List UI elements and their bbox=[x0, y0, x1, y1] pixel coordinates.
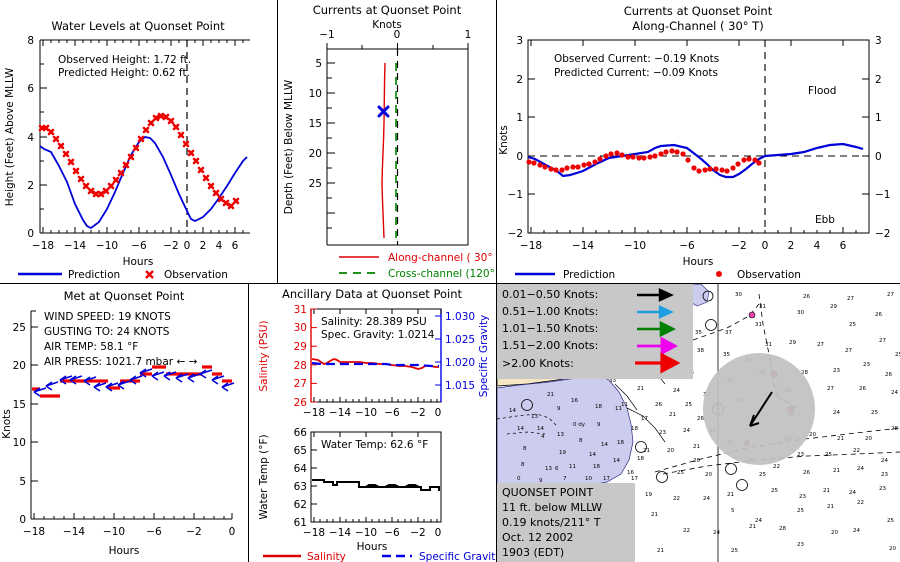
water-levels-chart: Water Levels at Quonset Point 0 4 6 2 bbox=[0, 0, 277, 283]
svg-text:31: 31 bbox=[755, 322, 762, 328]
svg-text:0: 0 bbox=[435, 407, 442, 419]
svg-text:16: 16 bbox=[571, 398, 578, 404]
observation-markers bbox=[40, 114, 238, 208]
air-press-readout: AIR PRESS: 1021.7 mbar ← → bbox=[44, 356, 198, 368]
currents-profile-legend: Along-channel ( 30° T) Cross-channel (12… bbox=[339, 252, 496, 280]
svg-text:21: 21 bbox=[657, 548, 664, 554]
svg-text:26: 26 bbox=[885, 372, 892, 378]
svg-text:25: 25 bbox=[731, 548, 738, 554]
legend-arrow-4 bbox=[635, 355, 677, 371]
legend-item-3-label: 1.51−2.00 Knots: bbox=[502, 339, 598, 352]
svg-text:24: 24 bbox=[713, 530, 720, 536]
station-current: 0.19 knots/211° T bbox=[502, 516, 601, 529]
svg-text:30: 30 bbox=[797, 310, 804, 316]
svg-text:7: 7 bbox=[563, 476, 567, 482]
svg-text:23: 23 bbox=[863, 362, 870, 368]
svg-text:0: 0 bbox=[27, 228, 34, 240]
shoal-area bbox=[497, 374, 633, 490]
svg-text:24: 24 bbox=[853, 528, 860, 534]
svg-text:−18: −18 bbox=[520, 240, 542, 252]
svg-text:5: 5 bbox=[731, 508, 735, 514]
svg-text:20: 20 bbox=[693, 458, 700, 464]
currents-series-xlabel: Hours bbox=[683, 256, 714, 268]
svg-text:21: 21 bbox=[651, 512, 658, 518]
svg-text:28: 28 bbox=[891, 426, 898, 432]
svg-text:−2: −2 bbox=[875, 228, 890, 240]
svg-text:−18: −18 bbox=[32, 240, 54, 252]
svg-text:24: 24 bbox=[857, 466, 864, 472]
svg-text:29: 29 bbox=[830, 304, 837, 310]
met-chart: Met at Quonset Point 0 5 10 15 2 bbox=[0, 284, 248, 562]
svg-text:6: 6 bbox=[27, 83, 34, 95]
water-levels-legend: Prediction Observation bbox=[18, 269, 228, 281]
flood-annotation: Flood bbox=[808, 85, 836, 97]
svg-text:3: 3 bbox=[516, 35, 523, 47]
svg-text:13: 13 bbox=[531, 414, 538, 420]
specific-gravity-curve bbox=[312, 363, 439, 366]
svg-text:28: 28 bbox=[779, 526, 786, 532]
currents-series-subtitle: Along-Channel ( 30° T) bbox=[632, 19, 763, 33]
panel-currents-series: Currents at Quonset Point Along-Channel … bbox=[497, 0, 900, 283]
legend-specific-gravity-label: Specific Gravity bbox=[419, 551, 496, 562]
svg-text:27: 27 bbox=[847, 296, 854, 302]
svg-text:−1: −1 bbox=[319, 29, 334, 41]
currents-observed-readout: Observed Current: −0.19 Knots bbox=[554, 53, 719, 65]
specific-gravity-ylabel: Specific Gravity bbox=[478, 315, 490, 398]
svg-text:8: 8 bbox=[521, 462, 525, 468]
svg-text:−1: −1 bbox=[508, 189, 523, 201]
svg-text:−2: −2 bbox=[410, 527, 425, 539]
panel-met: Met at Quonset Point 0 5 10 15 2 bbox=[0, 284, 248, 562]
svg-text:−10: −10 bbox=[355, 527, 377, 539]
svg-text:0: 0 bbox=[875, 151, 882, 163]
legend-prediction-label: Prediction bbox=[68, 269, 120, 281]
divider-horizontal-1 bbox=[0, 283, 900, 284]
svg-text:5: 5 bbox=[19, 476, 26, 488]
svg-text:24: 24 bbox=[833, 410, 840, 416]
air-temp-readout: AIR TEMP: 58.1 °F bbox=[44, 341, 138, 353]
svg-text:19: 19 bbox=[559, 450, 566, 456]
svg-text:25: 25 bbox=[309, 178, 322, 190]
svg-text:24: 24 bbox=[683, 428, 690, 434]
svg-text:25: 25 bbox=[825, 452, 832, 458]
legend-arrow-0 bbox=[637, 290, 671, 300]
water-levels-title: Water Levels at Quonset Point bbox=[51, 19, 225, 33]
svg-text:14: 14 bbox=[613, 458, 620, 464]
ebb-annotation: Ebb bbox=[815, 214, 835, 226]
station-time: 1903 (EDT) bbox=[502, 546, 564, 559]
svg-text:26: 26 bbox=[803, 294, 810, 300]
svg-text:−6: −6 bbox=[384, 527, 400, 539]
svg-text:23: 23 bbox=[659, 430, 666, 436]
svg-text:13: 13 bbox=[545, 466, 552, 472]
station-name: QUONSET POINT bbox=[502, 486, 594, 499]
prediction-curve bbox=[40, 137, 247, 228]
legend-prediction-label: Prediction bbox=[563, 269, 615, 281]
currents-profile-chart: Currents at Quonset Point Knots −1 0 1 bbox=[278, 0, 496, 283]
svg-text:2: 2 bbox=[27, 180, 34, 192]
water-temp-ylabel: Water Temp (°F) bbox=[258, 434, 270, 519]
svg-text:−18: −18 bbox=[303, 527, 325, 539]
svg-text:21: 21 bbox=[833, 468, 840, 474]
svg-text:26: 26 bbox=[655, 402, 662, 408]
svg-text:11: 11 bbox=[615, 406, 622, 412]
svg-text:−6: −6 bbox=[131, 240, 147, 252]
svg-text:27: 27 bbox=[294, 378, 307, 390]
divider-vertical-3 bbox=[248, 284, 249, 562]
svg-text:−14: −14 bbox=[329, 527, 351, 539]
wind-barbs bbox=[34, 369, 234, 396]
legend-observation-swatch bbox=[146, 271, 153, 278]
svg-text:23: 23 bbox=[797, 542, 804, 548]
svg-text:20: 20 bbox=[809, 432, 816, 438]
svg-text:18: 18 bbox=[593, 464, 600, 470]
svg-text:64: 64 bbox=[294, 463, 308, 475]
svg-text:1.030: 1.030 bbox=[445, 311, 475, 323]
svg-text:25: 25 bbox=[771, 488, 778, 494]
svg-text:8: 8 bbox=[27, 35, 34, 47]
svg-text:65: 65 bbox=[294, 445, 307, 457]
svg-text:25: 25 bbox=[685, 402, 692, 408]
svg-text:23: 23 bbox=[797, 452, 804, 458]
water-levels-xlabel: Hours bbox=[123, 256, 154, 268]
svg-text:21: 21 bbox=[669, 412, 676, 418]
svg-text:21: 21 bbox=[823, 488, 830, 494]
svg-text:−10: −10 bbox=[355, 407, 377, 419]
water-levels-ylabel: Height (Feet) Above MLLW bbox=[4, 67, 16, 206]
legend-arrow-1 bbox=[637, 307, 671, 317]
svg-text:31: 31 bbox=[765, 342, 772, 348]
svg-text:63: 63 bbox=[294, 481, 307, 493]
station-date: Oct. 12 2002 bbox=[502, 531, 574, 544]
svg-text:21: 21 bbox=[547, 392, 554, 398]
legend-item-4-label: >2.00 Knots: bbox=[502, 357, 574, 370]
svg-text:−2: −2 bbox=[186, 526, 201, 538]
svg-text:37: 37 bbox=[725, 330, 732, 336]
svg-text:−1: −1 bbox=[875, 189, 890, 201]
svg-text:3: 3 bbox=[875, 35, 882, 47]
svg-text:21: 21 bbox=[693, 444, 700, 450]
svg-text:22: 22 bbox=[683, 528, 690, 534]
svg-text:25: 25 bbox=[849, 322, 856, 328]
svg-text:23: 23 bbox=[879, 486, 886, 492]
svg-text:21: 21 bbox=[837, 436, 844, 442]
svg-text:1.020: 1.020 bbox=[445, 357, 475, 369]
svg-text:4: 4 bbox=[814, 240, 821, 252]
svg-text:−14: −14 bbox=[329, 407, 351, 419]
svg-text:24: 24 bbox=[755, 518, 762, 524]
divider-vertical-2 bbox=[496, 0, 497, 283]
svg-text:62: 62 bbox=[294, 499, 307, 511]
svg-text:22: 22 bbox=[853, 448, 860, 454]
svg-text:22: 22 bbox=[673, 496, 680, 502]
svg-text:−18: −18 bbox=[23, 526, 45, 538]
svg-text:−10: −10 bbox=[103, 526, 125, 538]
svg-text:23: 23 bbox=[799, 494, 806, 500]
svg-text:21: 21 bbox=[727, 492, 734, 498]
svg-text:2: 2 bbox=[516, 74, 523, 86]
water-temp-xlabel: Hours bbox=[357, 541, 388, 553]
svg-text:20: 20 bbox=[13, 360, 26, 372]
svg-text:26: 26 bbox=[875, 312, 882, 318]
svg-text:6: 6 bbox=[840, 240, 847, 252]
svg-text:29: 29 bbox=[294, 341, 307, 353]
svg-text:−14: −14 bbox=[63, 526, 85, 538]
svg-text:10: 10 bbox=[309, 88, 322, 100]
svg-text:20: 20 bbox=[831, 530, 838, 536]
svg-text:26: 26 bbox=[803, 470, 810, 476]
svg-text:6: 6 bbox=[555, 466, 559, 472]
svg-text:14: 14 bbox=[589, 452, 596, 458]
svg-text:14: 14 bbox=[537, 426, 544, 432]
svg-text:13: 13 bbox=[557, 432, 564, 438]
legend-arrow-2 bbox=[637, 323, 673, 335]
svg-text:1: 1 bbox=[465, 29, 472, 41]
salinity-readout: Salinity: 28.389 PSU bbox=[321, 316, 427, 328]
prediction-curve bbox=[528, 144, 863, 177]
svg-text:14: 14 bbox=[601, 442, 608, 448]
svg-text:21: 21 bbox=[749, 524, 756, 530]
svg-text:4: 4 bbox=[216, 240, 223, 252]
svg-text:2: 2 bbox=[788, 240, 795, 252]
legend-item-1-label: 0.51−1.00 Knots: bbox=[502, 305, 598, 318]
svg-text:8: 8 bbox=[523, 446, 527, 452]
currents-series-title: Currents at Quonset Point bbox=[624, 4, 773, 18]
legend-observation-swatch bbox=[716, 271, 722, 277]
svg-text:2: 2 bbox=[875, 74, 882, 86]
svg-text:0: 0 bbox=[394, 29, 401, 41]
svg-text:11: 11 bbox=[621, 402, 628, 408]
ancillary-title: Ancillary Data at Quonset Point bbox=[282, 287, 463, 301]
svg-text:24: 24 bbox=[891, 390, 898, 396]
svg-text:22: 22 bbox=[857, 500, 864, 506]
svg-text:25: 25 bbox=[871, 410, 878, 416]
salinity-ylabel: Salinity (PSU) bbox=[258, 320, 270, 391]
svg-text:27: 27 bbox=[827, 386, 834, 392]
svg-text:17: 17 bbox=[631, 476, 638, 482]
svg-text:18: 18 bbox=[617, 440, 624, 446]
svg-text:0: 0 bbox=[19, 514, 26, 526]
currents-series-ylabel: Knots bbox=[498, 125, 510, 155]
svg-text:27: 27 bbox=[879, 338, 886, 344]
svg-text:25: 25 bbox=[895, 352, 900, 358]
svg-text:−6: −6 bbox=[146, 526, 162, 538]
svg-text:20: 20 bbox=[309, 148, 322, 160]
divider-vertical-1 bbox=[277, 0, 278, 283]
currents-series-chart: Currents at Quonset Point Along-Channel … bbox=[497, 0, 900, 283]
svg-text:18: 18 bbox=[595, 404, 602, 410]
currents-profile-ylabel: Depth (Feet) Below MLLW bbox=[283, 79, 295, 214]
met-title: Met at Quonset Point bbox=[64, 289, 185, 303]
legend-cross-channel-label: Cross-channel (120° T) bbox=[388, 268, 496, 280]
svg-text:−10: −10 bbox=[624, 240, 646, 252]
svg-text:0 dy: 0 dy bbox=[573, 422, 586, 428]
svg-text:−2: −2 bbox=[410, 407, 425, 419]
svg-text:9: 9 bbox=[557, 406, 561, 412]
svg-text:1: 1 bbox=[516, 112, 523, 124]
panel-map[interactable]: 262727 303130 292625 313735 252424 38353… bbox=[497, 284, 900, 562]
legend-item-0-label: 0.01−0.50 Knots: bbox=[502, 288, 598, 301]
gusting-readout: GUSTING TO: 24 KNOTS bbox=[44, 326, 170, 338]
svg-text:9: 9 bbox=[597, 422, 601, 428]
svg-text:30: 30 bbox=[735, 292, 742, 298]
svg-text:26: 26 bbox=[859, 386, 866, 392]
svg-text:0: 0 bbox=[435, 527, 442, 539]
svg-text:−6: −6 bbox=[384, 407, 400, 419]
svg-text:22: 22 bbox=[773, 464, 780, 470]
svg-text:17: 17 bbox=[603, 476, 610, 482]
panel-water-levels: Water Levels at Quonset Point 0 4 6 2 bbox=[0, 0, 277, 283]
legend-observation-label: Observation bbox=[737, 269, 801, 281]
svg-text:1.025: 1.025 bbox=[445, 334, 475, 346]
svg-text:24: 24 bbox=[849, 490, 856, 496]
panel-ancillary: Ancillary Data at Quonset Point 31 30 29… bbox=[249, 284, 496, 562]
svg-text:4: 4 bbox=[541, 434, 545, 440]
map-station-info-box: QUONSET POINT 11 ft. below MLLW 0.19 kno… bbox=[497, 483, 635, 562]
svg-text:0: 0 bbox=[229, 526, 236, 538]
svg-text:35: 35 bbox=[695, 330, 702, 336]
svg-text:25: 25 bbox=[759, 472, 766, 478]
svg-text:25: 25 bbox=[13, 322, 26, 334]
svg-text:66: 66 bbox=[294, 427, 308, 439]
panel-currents-profile: Currents at Quonset Point Knots −1 0 1 bbox=[278, 0, 496, 283]
ancillary-chart: Ancillary Data at Quonset Point 31 30 29… bbox=[249, 284, 496, 562]
svg-text:14: 14 bbox=[509, 408, 516, 414]
currents-series-legend: Prediction Observation bbox=[515, 269, 801, 281]
svg-text:27: 27 bbox=[817, 342, 824, 348]
map-legend-box: 0.01−0.50 Knots: 0.51−1.00 Knots: 1.01−1… bbox=[497, 284, 693, 379]
svg-text:24: 24 bbox=[673, 388, 680, 394]
current-vector-indicator[interactable] bbox=[703, 353, 815, 465]
water-levels-observed-readout: Observed Height: 1.72 ft. bbox=[58, 54, 191, 66]
svg-text:20: 20 bbox=[705, 472, 712, 478]
svg-text:14: 14 bbox=[517, 426, 524, 432]
svg-text:0: 0 bbox=[517, 476, 521, 482]
svg-text:10: 10 bbox=[585, 476, 592, 482]
svg-text:2: 2 bbox=[200, 240, 207, 252]
legend-along-channel-label: Along-channel ( 30° T) bbox=[388, 252, 496, 264]
svg-text:23: 23 bbox=[881, 472, 888, 478]
svg-text:20: 20 bbox=[667, 448, 674, 454]
svg-text:31: 31 bbox=[294, 304, 307, 316]
met-xlabel: Hours bbox=[109, 545, 140, 557]
station-depth: 11 ft. below MLLW bbox=[502, 501, 602, 514]
svg-text:25: 25 bbox=[887, 518, 894, 524]
svg-text:0: 0 bbox=[184, 240, 191, 252]
wind-speed-readout: WIND SPEED: 19 KNOTS bbox=[44, 311, 171, 323]
currents-predicted-readout: Predicted Current: −0.09 Knots bbox=[554, 67, 718, 79]
svg-text:−2: −2 bbox=[508, 228, 523, 240]
svg-text:15: 15 bbox=[13, 399, 26, 411]
svg-text:−2: −2 bbox=[163, 240, 178, 252]
svg-text:−14: −14 bbox=[572, 240, 594, 252]
svg-text:0: 0 bbox=[762, 240, 769, 252]
svg-text:17: 17 bbox=[641, 416, 648, 422]
legend-observation-label: Observation bbox=[164, 269, 228, 281]
svg-text:31: 31 bbox=[759, 304, 766, 310]
svg-text:−10: −10 bbox=[96, 240, 118, 252]
svg-text:21: 21 bbox=[637, 386, 644, 392]
svg-text:20: 20 bbox=[865, 436, 872, 442]
svg-text:24: 24 bbox=[703, 496, 710, 502]
svg-text:−2: −2 bbox=[731, 240, 746, 252]
svg-text:28: 28 bbox=[294, 360, 307, 372]
svg-text:−6: −6 bbox=[679, 240, 695, 252]
svg-text:1: 1 bbox=[875, 112, 882, 124]
svg-text:27: 27 bbox=[845, 348, 852, 354]
svg-text:35: 35 bbox=[723, 352, 730, 358]
svg-text:1.015: 1.015 bbox=[445, 380, 475, 392]
water-temp-readout: Water Temp: 62.6 °F bbox=[321, 439, 428, 451]
svg-text:−18: −18 bbox=[303, 407, 325, 419]
svg-text:−14: −14 bbox=[64, 240, 86, 252]
svg-text:25: 25 bbox=[677, 470, 684, 476]
legend-item-2-label: 1.01−1.50 Knots: bbox=[502, 322, 598, 335]
svg-text:5: 5 bbox=[315, 58, 322, 70]
svg-text:4: 4 bbox=[27, 132, 34, 144]
svg-text:18: 18 bbox=[631, 426, 638, 432]
legend-arrow-3 bbox=[637, 339, 675, 353]
svg-text:27: 27 bbox=[887, 292, 894, 298]
water-levels-predicted-readout: Predicted Height: 0.62 ft. bbox=[58, 67, 190, 79]
svg-text:18: 18 bbox=[637, 456, 644, 462]
currents-profile-axes: −1 0 1 5 10 15 20 25 bbox=[309, 29, 472, 245]
svg-text:10: 10 bbox=[13, 437, 26, 449]
svg-text:29: 29 bbox=[789, 340, 796, 346]
met-ylabel: Knots bbox=[1, 409, 13, 439]
svg-text:23: 23 bbox=[833, 368, 840, 374]
svg-text:20: 20 bbox=[889, 546, 896, 552]
legend-salinity-label: Salinity bbox=[307, 551, 346, 562]
svg-text:38: 38 bbox=[697, 348, 704, 354]
divider-vertical-4 bbox=[496, 284, 497, 562]
svg-text:26: 26 bbox=[697, 416, 704, 422]
svg-text:21: 21 bbox=[827, 504, 834, 510]
currents-profile-title: Currents at Quonset Point bbox=[313, 3, 462, 17]
specific-gravity-readout: Spec. Gravity: 1.0214 bbox=[321, 329, 435, 341]
svg-text:15: 15 bbox=[309, 118, 322, 130]
along-channel-profile bbox=[382, 63, 385, 238]
dashboard-root: Valid Time: 1906 (EDT) 10/12/02 Water Le… bbox=[0, 0, 900, 562]
svg-text:19: 19 bbox=[645, 492, 652, 498]
svg-text:0: 0 bbox=[516, 151, 523, 163]
svg-text:25: 25 bbox=[797, 508, 804, 514]
svg-text:11: 11 bbox=[569, 464, 576, 470]
svg-text:6: 6 bbox=[232, 240, 239, 252]
svg-text:8: 8 bbox=[579, 438, 583, 444]
svg-text:21: 21 bbox=[643, 448, 650, 454]
svg-text:24: 24 bbox=[881, 458, 888, 464]
svg-text:30: 30 bbox=[294, 322, 307, 334]
